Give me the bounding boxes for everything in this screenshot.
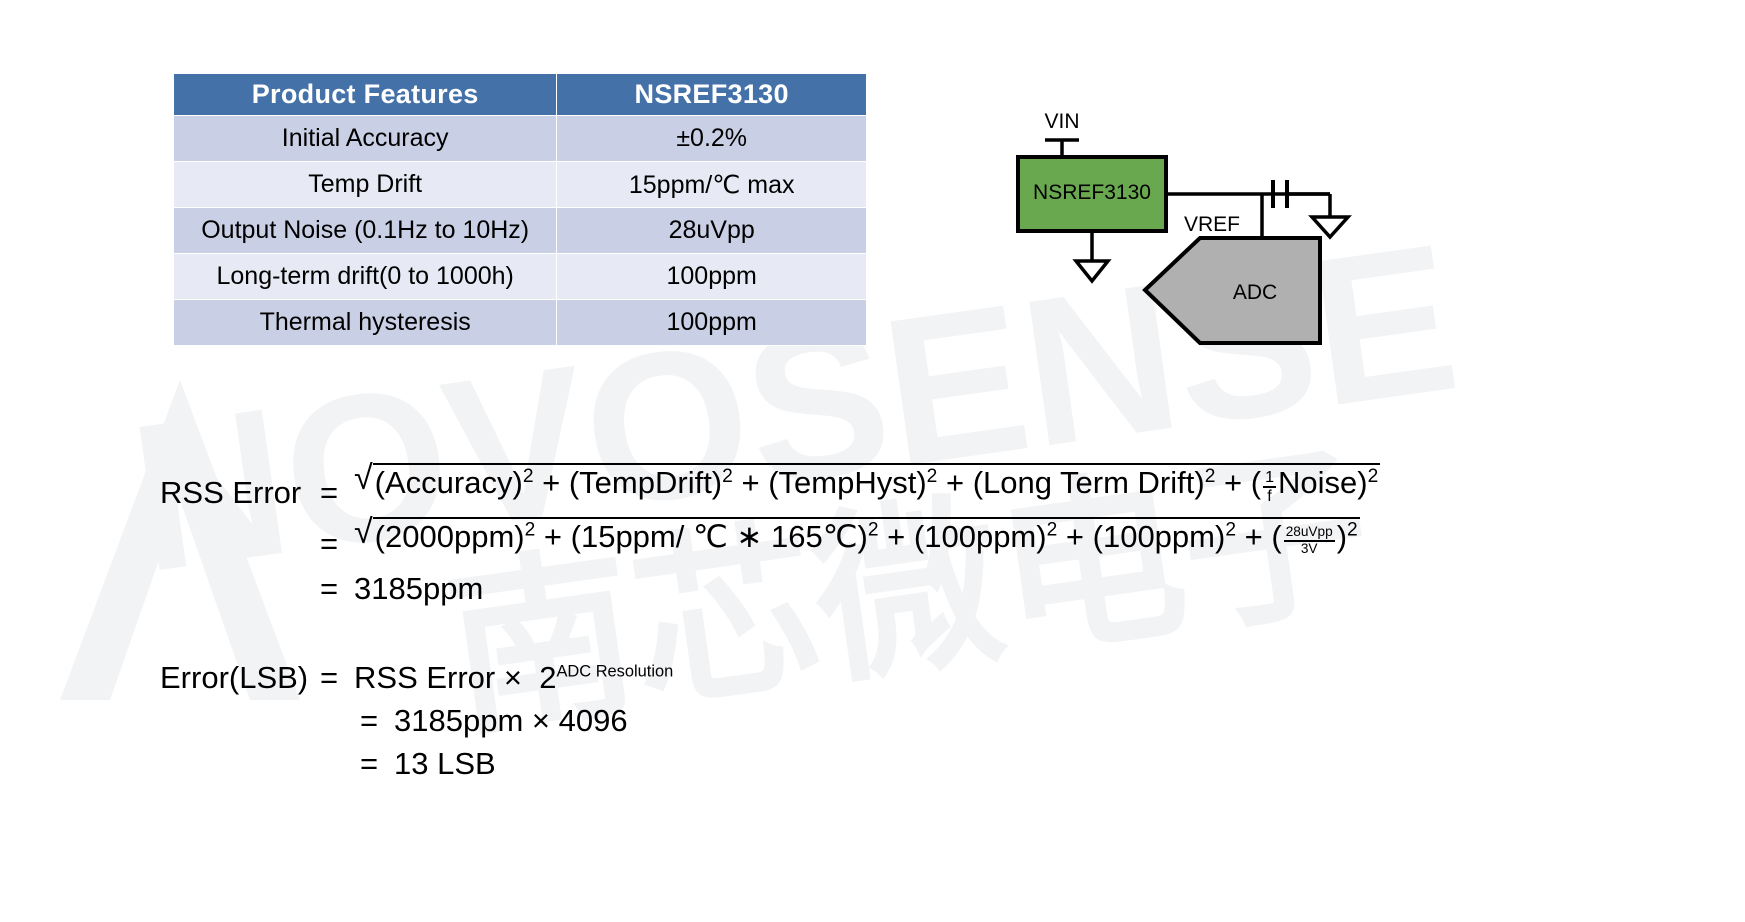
- error-lsb-label: Error(LSB): [160, 662, 320, 693]
- noise-fraction-denominator: 3V: [1284, 540, 1335, 556]
- one-over-f-denominator: f: [1263, 486, 1276, 505]
- radical-sign-1: √: [354, 464, 373, 493]
- exp-accuracy: 2: [523, 466, 534, 487]
- table-row: Initial Accuracy ±0.2%: [174, 116, 867, 162]
- one-over-f-numerator: 1: [1263, 469, 1276, 486]
- adc-block-label: ADC: [1233, 281, 1277, 304]
- exp-tempdrift: 2: [722, 466, 733, 487]
- term-longtermdrift: (Long Term Drift): [973, 465, 1205, 500]
- value-tempdrift: (15ppm/ ℃ ∗ 165℃): [571, 519, 868, 554]
- noise-close-paren-2: ): [1337, 519, 1347, 554]
- table-row: Temp Drift 15ppm/℃ max: [174, 162, 867, 208]
- table-row: Output Noise (0.1Hz to 10Hz) 28uVpp: [174, 208, 867, 254]
- table-cell-feature: Thermal hysteresis: [174, 300, 557, 346]
- formula-line-1: RSS Error = √ (Accuracy)2 + (TempDrift)2…: [160, 468, 1380, 508]
- plus-1b: +: [741, 465, 759, 500]
- formula-line-4: Error(LSB) = RSS Error × 2ADC Resolution: [160, 662, 1380, 693]
- equals-sign-6: =: [360, 748, 394, 779]
- power-base: 2: [539, 660, 556, 695]
- equals-sign-4: =: [320, 662, 354, 693]
- plus-2d: +: [1245, 519, 1263, 554]
- table-cell-feature: Output Noise (0.1Hz to 10Hz): [174, 208, 557, 254]
- exp2-b: 2: [868, 520, 879, 541]
- sqrt-expression-2: √ (2000ppm)2 + (15ppm/ ℃ ∗ 165℃)2 + (100…: [354, 522, 1360, 559]
- plus-1a: +: [542, 465, 560, 500]
- slide-canvas: NOVOSENSE 南芯微电子 Product Features NSREF31…: [0, 0, 1745, 922]
- noise-open-paren-1: (: [1251, 465, 1261, 500]
- value-longtermdrift: (100ppm): [1093, 519, 1226, 554]
- cap-ground-symbol: [1312, 217, 1348, 237]
- value-accuracy: (2000ppm): [375, 519, 525, 554]
- equals-sign-5: =: [360, 705, 394, 736]
- table-cell-feature: Initial Accuracy: [174, 116, 557, 162]
- nsref3130-block-label: NSREF3130: [1033, 181, 1151, 204]
- error-lsb-substitution: 3185ppm × 4096: [394, 705, 628, 736]
- sqrt-expression-1: √ (Accuracy)2 + (TempDrift)2 + (TempHyst…: [354, 468, 1380, 508]
- value-temphyst: (100ppm): [914, 519, 1047, 554]
- table-cell-feature: Temp Drift: [174, 162, 557, 208]
- equals-sign-1: =: [320, 477, 354, 508]
- equals-sign-2: =: [320, 528, 354, 559]
- radicand-1: (Accuracy)2 + (TempDrift)2 + (TempHyst)2…: [373, 463, 1381, 503]
- table-header-row: Product Features NSREF3130: [174, 74, 867, 116]
- exp-temphyst: 2: [927, 466, 938, 487]
- exp2-d: 2: [1225, 520, 1236, 541]
- rss-error-label: RSS Error: [160, 477, 320, 508]
- power-exponent: ADC Resolution: [556, 663, 673, 681]
- term-accuracy: (Accuracy): [375, 465, 523, 500]
- ref-ground-symbol: [1076, 261, 1108, 281]
- table-cell-value: 100ppm: [557, 300, 867, 346]
- table-row: Long-term drift(0 to 1000h) 100ppm: [174, 254, 867, 300]
- table-cell-value: 28uVpp: [557, 208, 867, 254]
- formula-line-5: = 3185ppm × 4096: [160, 705, 1380, 736]
- exp2-c: 2: [1047, 520, 1058, 541]
- radical-sign-2: √: [354, 518, 373, 547]
- plus-2a: +: [544, 519, 562, 554]
- formula-line-6: = 13 LSB: [160, 748, 1380, 779]
- noise-label-1: Noise): [1278, 465, 1368, 500]
- radicand-2: (2000ppm)2 + (15ppm/ ℃ ∗ 165℃)2 + (100pp…: [373, 517, 1360, 554]
- noise-fraction-numerator: 28uVpp: [1284, 525, 1335, 539]
- rss-error-result: 3185ppm: [354, 573, 483, 604]
- plus-2c: +: [1066, 519, 1084, 554]
- error-lsb-result: 13 LSB: [394, 748, 496, 779]
- one-over-f-fraction: 1f: [1263, 469, 1276, 505]
- equals-sign-3: =: [320, 573, 354, 604]
- product-features-table: Product Features NSREF3130 Initial Accur…: [173, 73, 867, 346]
- table-cell-value: 15ppm/℃ max: [557, 162, 867, 208]
- term-temphyst: (TempHyst): [768, 465, 926, 500]
- exp2-a: 2: [525, 520, 536, 541]
- plus-1d: +: [1224, 465, 1242, 500]
- vin-label: VIN: [1044, 110, 1079, 133]
- table-cell-feature: Long-term drift(0 to 1000h): [174, 254, 557, 300]
- table-cell-value: ±0.2%: [557, 116, 867, 162]
- exp-noise-1: 2: [1368, 466, 1379, 487]
- table-row: Thermal hysteresis 100ppm: [174, 300, 867, 346]
- rss-error-formula-block: RSS Error = √ (Accuracy)2 + (TempDrift)2…: [160, 468, 1380, 779]
- plus-2b: +: [887, 519, 905, 554]
- exp-longtermdrift: 2: [1205, 466, 1216, 487]
- noise-voltage-fraction: 28uVpp3V: [1284, 525, 1335, 556]
- table-header-feature: Product Features: [174, 74, 557, 116]
- formula-line-2: = √ (2000ppm)2 + (15ppm/ ℃ ∗ 165℃)2 + (1…: [160, 522, 1380, 559]
- table-cell-value: 100ppm: [557, 254, 867, 300]
- vref-label: VREF: [1184, 213, 1240, 236]
- rss-error-times: RSS Error ×: [354, 660, 522, 695]
- noise-open-paren-2: (: [1271, 519, 1281, 554]
- term-tempdrift: (TempDrift): [569, 465, 722, 500]
- exp2-e: 2: [1347, 520, 1358, 541]
- table-header-part: NSREF3130: [557, 74, 867, 116]
- formula-line-3: = 3185ppm: [160, 573, 1380, 604]
- plus-1c: +: [946, 465, 964, 500]
- application-circuit-diagram: VIN NSREF3130 VREF ADC: [990, 95, 1410, 370]
- error-lsb-expression: RSS Error × 2ADC Resolution: [354, 662, 673, 693]
